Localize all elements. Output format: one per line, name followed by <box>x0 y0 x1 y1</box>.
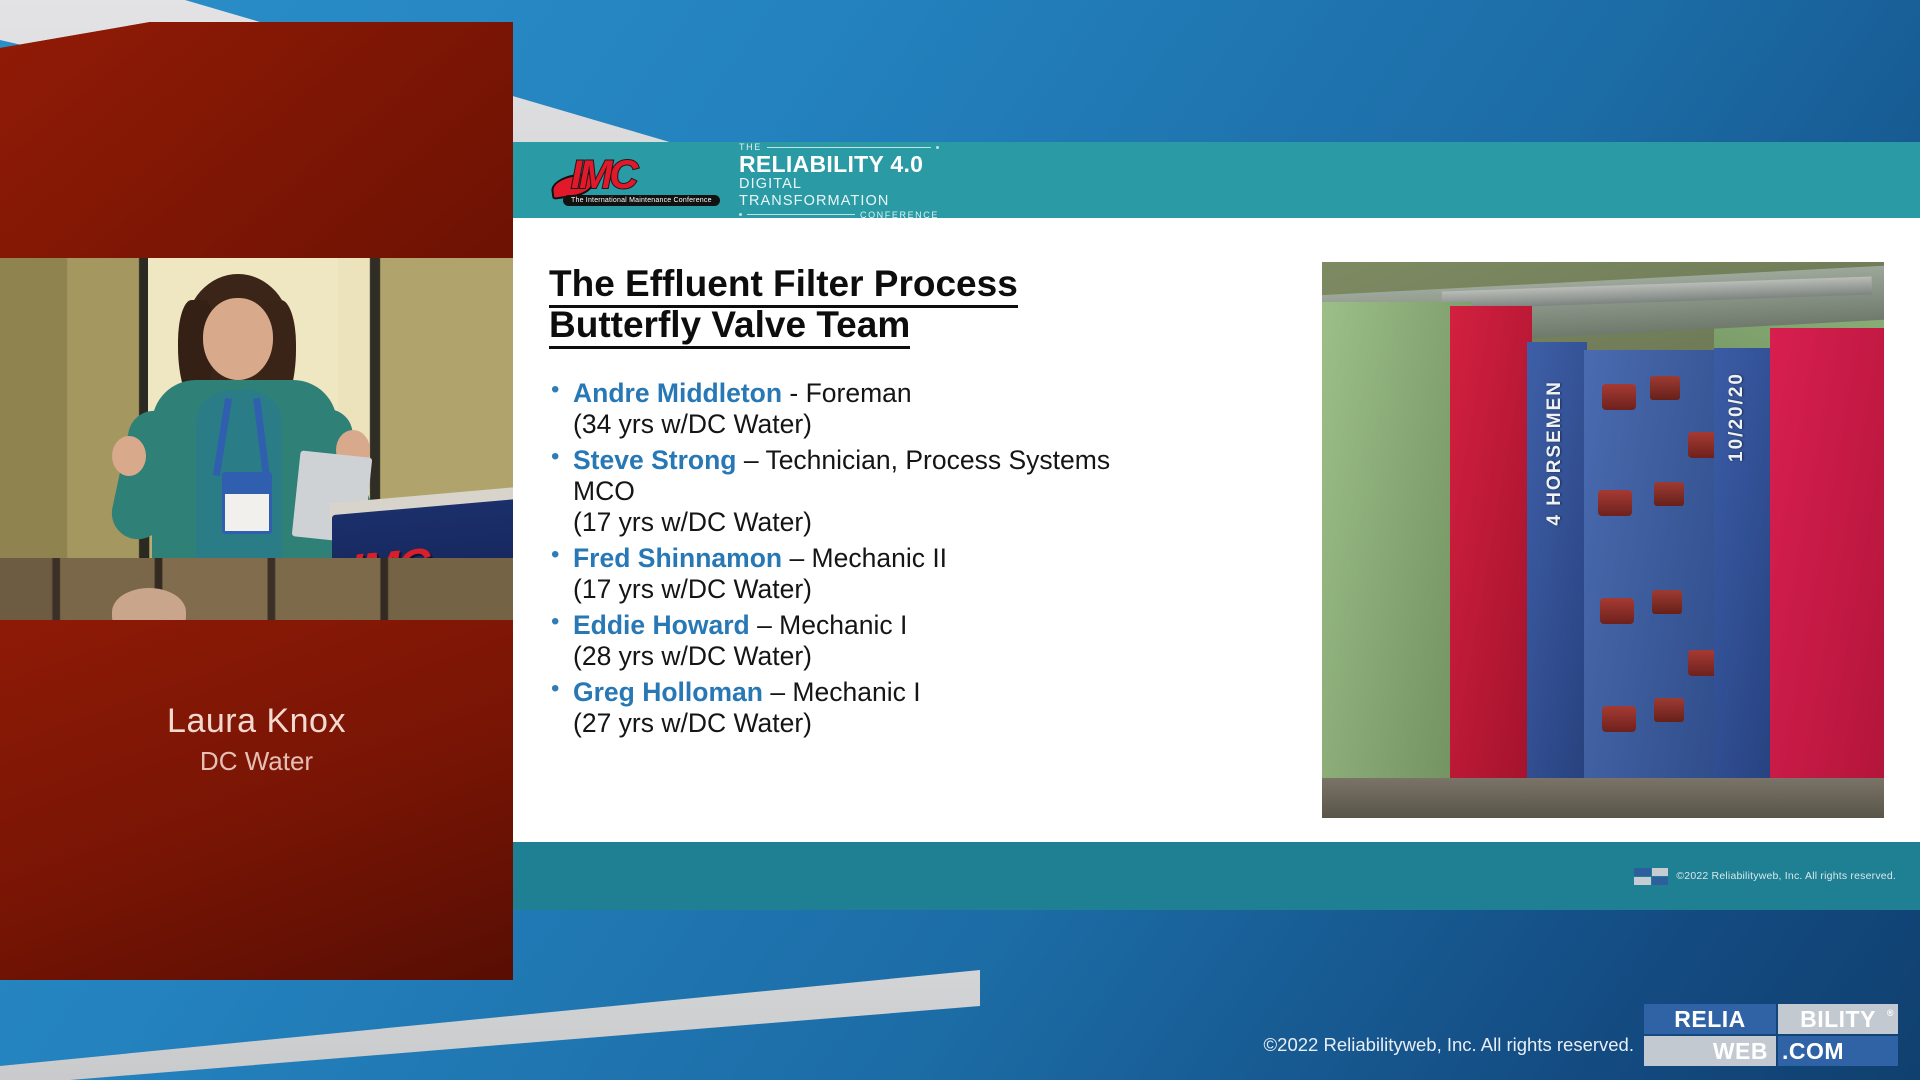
imc-logo: IMC The International Maintenance Confer… <box>551 151 703 209</box>
member-years: (34 yrs w/DC Water) <box>573 409 1127 440</box>
mini-logo-cell-d <box>1652 877 1669 885</box>
r40-dot-left <box>936 146 939 149</box>
member-name: Steve Strong <box>573 445 736 475</box>
valve-nut <box>1654 698 1684 722</box>
photo-floor <box>1322 778 1884 818</box>
list-item: Steve Strong – Technician, Process Syste… <box>547 445 1127 538</box>
valve-bolt <box>1602 384 1636 410</box>
team-member-list: Andre Middleton - Foreman (34 yrs w/DC W… <box>547 378 1127 744</box>
slide-title-line1: The Effluent Filter Process <box>549 263 1018 308</box>
presenter-organization: DC Water <box>0 746 513 777</box>
member-role: – Mechanic I <box>763 677 921 707</box>
slide-footer: ©2022 Reliabilityweb, Inc. All rights re… <box>513 842 1920 910</box>
page-copyright: ©2022 Reliabilityweb, Inc. All rights re… <box>1264 1034 1634 1056</box>
logo-com: .COM <box>1778 1036 1898 1066</box>
presentation-slide[interactable]: IMC The International Maintenance Confer… <box>513 142 1920 910</box>
logo-web: WEB <box>1644 1036 1776 1066</box>
r40-subtitle: DIGITAL TRANSFORMATION <box>739 176 939 209</box>
member-role: – Mechanic II <box>782 543 947 573</box>
list-item: Eddie Howard – Mechanic I (28 yrs w/DC W… <box>547 610 1127 672</box>
presenter-video-frame: IMC The 36th International Maintenance <box>0 258 513 620</box>
presenter-badge <box>222 472 272 534</box>
logo-bility-text: BILITY <box>1800 1006 1876 1033</box>
slide-title: The Effluent Filter Process Butterfly Va… <box>549 263 1109 346</box>
imc-tagline: The International Maintenance Conference <box>563 195 720 206</box>
member-role: - Foreman <box>782 378 912 408</box>
r40-rule-left <box>767 147 931 148</box>
member-role: – Mechanic I <box>750 610 908 640</box>
mini-logo-cell-a <box>1634 868 1651 876</box>
logo-bility: BILITY ® <box>1778 1004 1898 1034</box>
slide-title-line2: Butterfly Valve Team <box>549 304 910 349</box>
reliabilityweb-logo: RELIA BILITY ® WEB .COM <box>1644 1004 1896 1066</box>
valve-bolt <box>1600 598 1634 624</box>
badge-header-strip <box>225 475 269 494</box>
list-item: Greg Holloman – Mechanic I (27 yrs w/DC … <box>547 677 1127 739</box>
member-years: (27 yrs w/DC Water) <box>573 708 1127 739</box>
member-name: Andre Middleton <box>573 378 782 408</box>
member-name: Fred Shinnamon <box>573 543 782 573</box>
video-top-band <box>0 22 513 258</box>
member-years: (28 yrs w/DC Water) <box>573 641 1127 672</box>
registered-mark-icon: ® <box>1887 1008 1894 1018</box>
valve-bolt <box>1598 490 1632 516</box>
presenter-face <box>203 298 273 380</box>
valve-flange-red-left <box>1450 306 1532 818</box>
valve-nut <box>1650 376 1680 400</box>
list-item: Andre Middleton - Foreman (34 yrs w/DC W… <box>547 378 1127 440</box>
presenter-video-panel[interactable]: IMC The 36th International Maintenance L… <box>0 22 513 980</box>
valve-nut <box>1654 482 1684 506</box>
mini-logo-cell-c <box>1634 877 1651 885</box>
imc-logo-text: IMC <box>571 153 635 198</box>
member-years: (17 yrs w/DC Water) <box>573 507 1127 538</box>
presenter-name-banner: Laura Knox DC Water <box>0 620 513 980</box>
member-name: Greg Holloman <box>573 677 763 707</box>
handwriting-4-horsemen: 4 HORSEMEN <box>1544 380 1566 526</box>
reliabilityweb-mini-logo <box>1634 868 1668 885</box>
mini-logo-cell-b <box>1652 868 1669 876</box>
r40-dot-right <box>739 213 742 216</box>
reliability40-logo: THE RELIABILITY 4.0 DIGITAL TRANSFORMATI… <box>739 142 939 220</box>
logo-relia: RELIA <box>1644 1004 1776 1034</box>
valve-nut <box>1652 590 1682 614</box>
presenter-hand-left <box>112 436 146 476</box>
member-years: (17 yrs w/DC Water) <box>573 574 1127 605</box>
handwriting-date: 10/20/20 <box>1726 372 1748 462</box>
r40-rule-right <box>747 214 855 215</box>
list-item: Fred Shinnamon – Mechanic II (17 yrs w/D… <box>547 543 1127 605</box>
valve-bolt-area <box>1584 350 1732 818</box>
slide-header: IMC The International Maintenance Confer… <box>513 142 1920 218</box>
valve-flange-red-right <box>1770 328 1884 818</box>
butterfly-valve-photo: 4 HORSEMEN 10/20/20 <box>1322 262 1884 818</box>
valve-bolt <box>1602 706 1636 732</box>
presenter-name: Laura Knox <box>0 702 513 741</box>
member-name: Eddie Howard <box>573 610 750 640</box>
slide-body: The Effluent Filter Process Butterfly Va… <box>513 218 1920 842</box>
audience-chairs <box>0 558 513 620</box>
r40-title: RELIABILITY 4.0 <box>739 152 939 176</box>
slide-footer-copyright: ©2022 Reliabilityweb, Inc. All rights re… <box>1676 870 1896 882</box>
